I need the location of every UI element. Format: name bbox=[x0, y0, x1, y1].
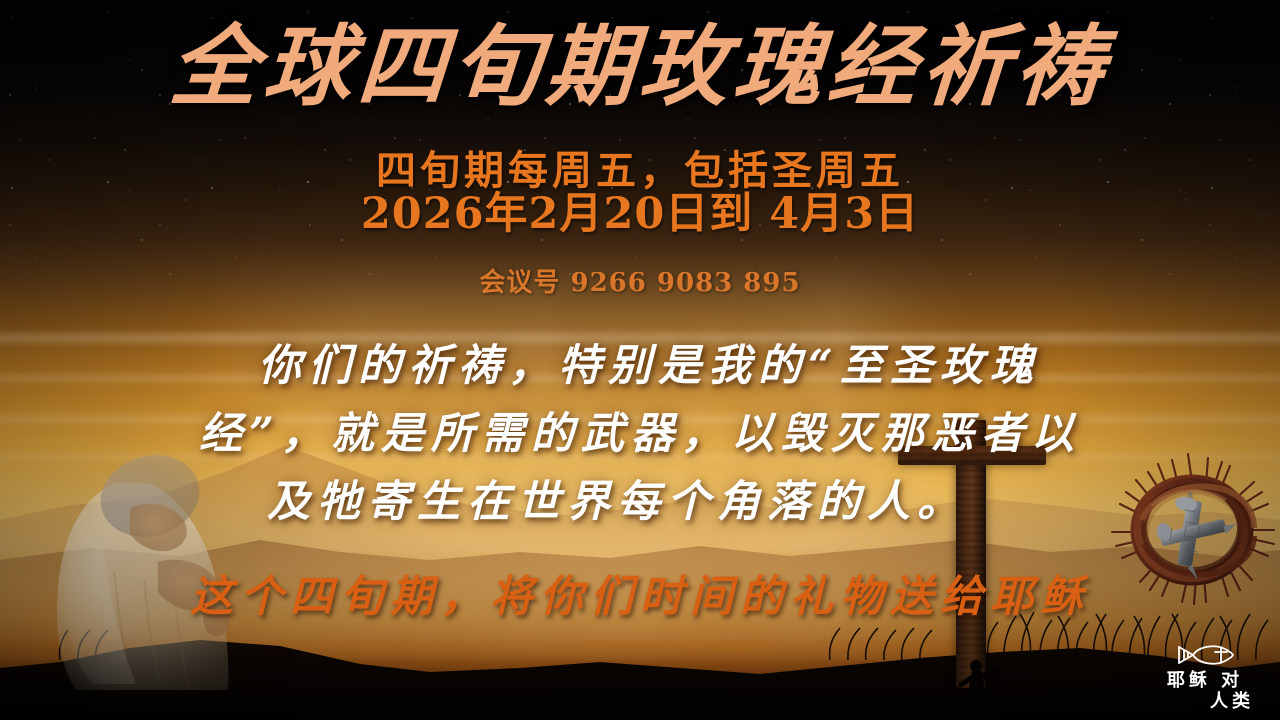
page-title: 全球四旬期玫瑰经祈祷 bbox=[0, 22, 1280, 110]
subtitle-line-1: 四旬期每周五，包括圣周五 bbox=[0, 150, 1280, 192]
poster: 全球四旬期玫瑰经祈祷 四旬期每周五，包括圣周五 2026年2月20日到 4月3日… bbox=[0, 0, 1280, 720]
quote-block: 你们的祈祷，特别是我的“至圣玫瑰 经”，就是所需的武器，以毁灭那恶者以 及牠寄生… bbox=[0, 332, 1280, 536]
quote-line-1: 你们的祈祷，特别是我的“至圣玫瑰 bbox=[0, 332, 1280, 400]
logo: 耶稣 对 人类 bbox=[1142, 642, 1268, 712]
tagline: 这个四旬期，将你们时间的礼物送给耶稣 bbox=[0, 562, 1280, 624]
meeting-id: 会议号 9266 9083 895 bbox=[0, 262, 1280, 299]
quote-line-2: 经”，就是所需的武器，以毁灭那恶者以 bbox=[0, 400, 1280, 468]
ichthys-fish-cross-icon bbox=[1173, 642, 1237, 668]
quote-line-3: 及牠寄生在世界每个角落的人。 bbox=[0, 468, 1280, 536]
logo-line-1: 耶稣 对 bbox=[1142, 670, 1268, 691]
subtitle-line-2: 2026年2月20日到 4月3日 bbox=[0, 192, 1280, 238]
logo-line-2: 人类 bbox=[1142, 691, 1268, 712]
subtitle-block: 四旬期每周五，包括圣周五 2026年2月20日到 4月3日 bbox=[0, 150, 1280, 238]
